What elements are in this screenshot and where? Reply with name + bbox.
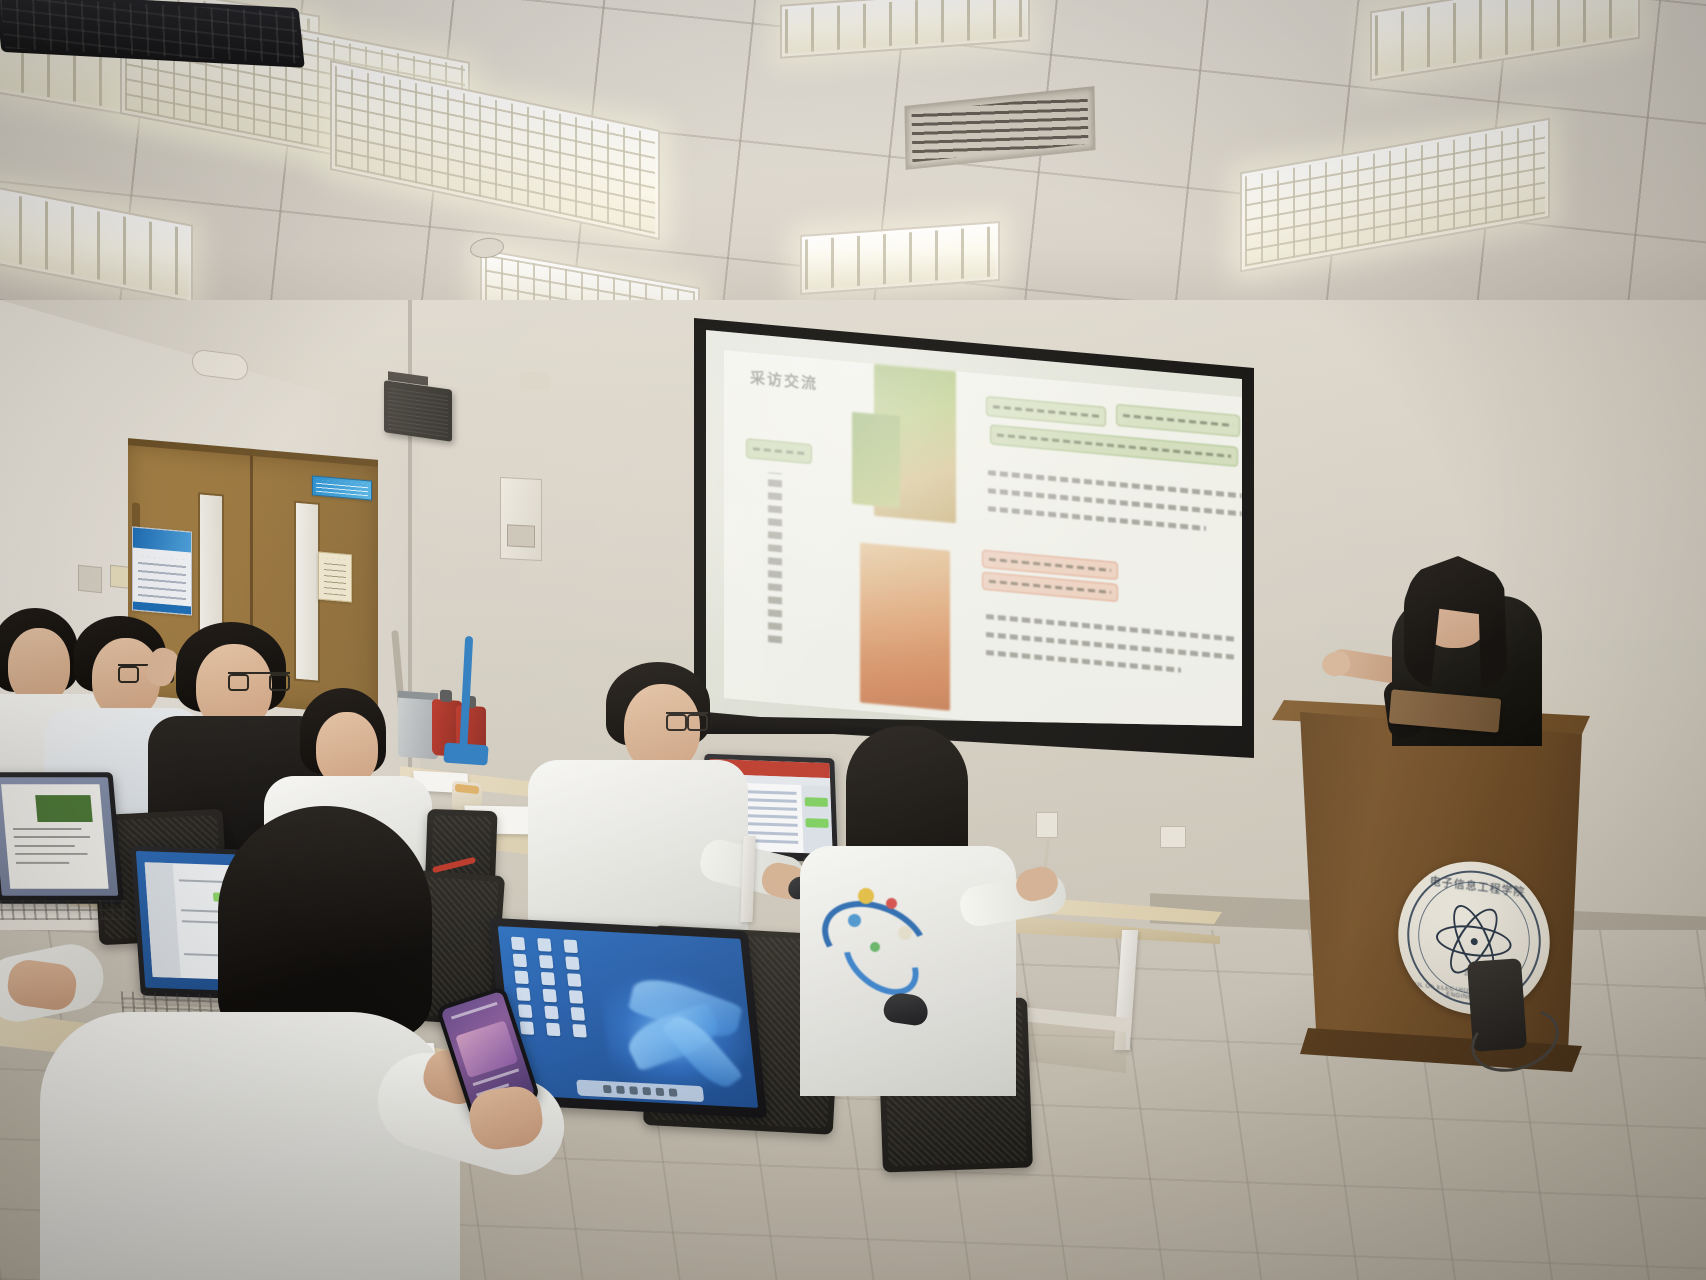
electrical-panel — [500, 477, 542, 561]
slide-photo-crop — [852, 412, 900, 508]
glasses-icon — [228, 672, 290, 682]
mop-head-icon — [443, 742, 488, 765]
wall-socket[interactable] — [1160, 826, 1186, 848]
taskbar-app-icon — [669, 1088, 678, 1096]
door-notice-poster — [132, 526, 192, 615]
slide-tag-green-2 — [1116, 404, 1240, 437]
light-switch[interactable] — [78, 565, 102, 594]
slide-tag-left — [746, 438, 812, 464]
taskbar-search-icon — [616, 1086, 625, 1094]
slide-body-orange — [986, 614, 1236, 691]
projection-screen: 采访交流 — [706, 330, 1242, 740]
door-schedule-plaque — [318, 552, 352, 603]
glasses-icon — [666, 712, 708, 722]
slide-tag-green-1 — [986, 396, 1106, 427]
taskbar-app-icon — [629, 1086, 638, 1094]
wall-speaker-icon — [384, 380, 452, 442]
slide-body-green — [988, 470, 1242, 547]
person-hair — [218, 806, 432, 1038]
laptop-keyboard[interactable] — [0, 896, 133, 924]
wall-socket[interactable] — [1036, 812, 1058, 838]
presentation-slide: 采访交流 — [724, 350, 1242, 740]
tshirt-graphic — [812, 880, 944, 998]
person-head — [316, 712, 378, 786]
document-page — [1, 784, 108, 888]
classroom-photo: 采访交流 电子信息工程学院 — [0, 0, 1706, 1280]
slide-vertical-caption — [768, 472, 782, 643]
taskbar-start-icon — [603, 1085, 612, 1093]
slide-title: 采访交流 — [750, 367, 818, 394]
browser-sidebar — [801, 785, 832, 854]
laptop-screen — [498, 926, 758, 1108]
door-glass-pane — [294, 501, 320, 683]
list-item — [40, 1012, 460, 1280]
wall-sensor-icon — [520, 371, 550, 391]
slide-photo-people — [860, 543, 950, 711]
taskbar-app-icon — [643, 1087, 652, 1095]
person-head — [8, 628, 70, 704]
highlighted-block — [36, 795, 93, 822]
chat-contact-list — [144, 862, 181, 978]
laptop-document-editor[interactable] — [0, 772, 124, 903]
laptop-screen — [0, 777, 118, 896]
taskbar-app-icon — [656, 1088, 665, 1096]
